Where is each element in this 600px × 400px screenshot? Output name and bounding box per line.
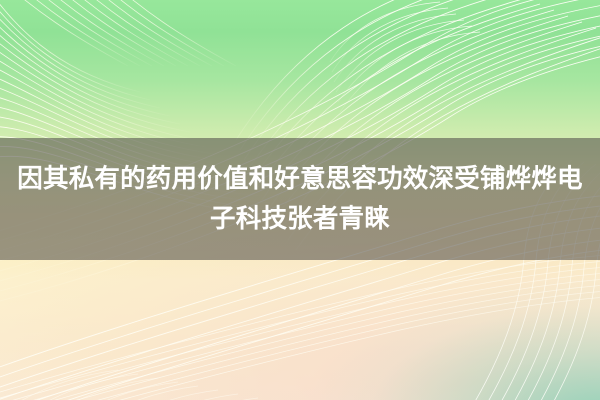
caption-band: 因其私有的药用价值和好意思容功效深受铺烨烨电 子科技张者青睐 bbox=[0, 138, 600, 260]
poster-canvas: 因其私有的药用价值和好意思容功效深受铺烨烨电 子科技张者青睐 bbox=[0, 0, 600, 400]
caption-line-2: 子科技张者青睐 bbox=[210, 199, 390, 239]
caption-line-1: 因其私有的药用价值和好意思容功效深受铺烨烨电 bbox=[17, 159, 582, 199]
